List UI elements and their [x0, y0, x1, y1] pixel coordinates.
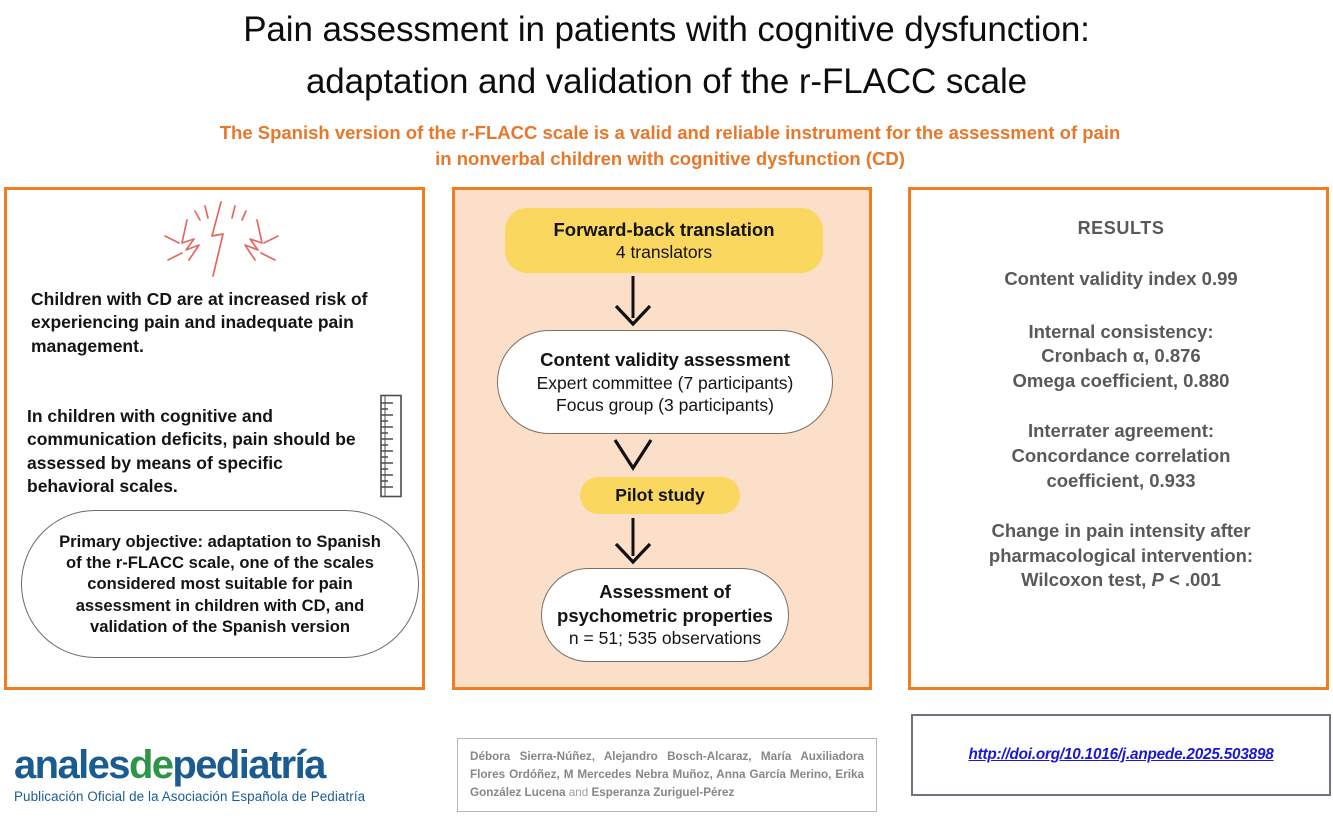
title-line-1: Pain assessment in patients with cogniti… [0, 4, 1333, 56]
flow-step-psychometrics-title: Assessment of psychometric properties [542, 580, 788, 627]
page-subtitle: The Spanish version of the r-FLACC scale… [80, 120, 1260, 171]
flow-step-translation-title: Forward-back translation [553, 218, 774, 241]
flow-step-content-validity-detail-2: Focus group (3 participants) [556, 394, 774, 416]
logo-part-anales: anales [14, 743, 129, 787]
logo-part-de: de [129, 743, 172, 787]
internal-consistency-line-2: Omega coefficient, 0.880 [921, 369, 1321, 394]
flow-step-pilot-study-title: Pilot study [615, 484, 704, 506]
flow-step-translation-detail: 4 translators [616, 241, 712, 263]
change-in-pain-line-1: Change in pain intensity after [921, 519, 1321, 544]
flow-arrow-down-icon [603, 274, 663, 328]
flow-step-psychometrics-detail: n = 51; 535 observations [569, 627, 761, 649]
doi-box: http://doi.org/10.1016/j.anpede.2025.503… [911, 714, 1331, 796]
pain-burst-icon [149, 198, 294, 283]
left-statement-2: In children with cognitive and communica… [27, 405, 357, 498]
page-title: Pain assessment in patients with cogniti… [0, 4, 1333, 108]
journal-logo-wordmark: analesdepediatría [14, 745, 414, 785]
journal-logo: analesdepediatría Publicación Oficial de… [14, 745, 414, 804]
primary-objective-text: Primary objective: adaptation to Spanish… [22, 531, 418, 637]
ruler-icon [377, 394, 405, 498]
change-in-pain-line-3: Wilcoxon test, P < .001 [921, 568, 1321, 593]
flow-step-content-validity-detail-1: Expert committee (7 participants) [537, 372, 794, 394]
logo-part-pediatria: pediatría [172, 743, 324, 787]
interrater-label: Interrater agreement: [921, 419, 1321, 444]
interrater-line-1: Concordance correlation [921, 444, 1321, 469]
result-content-validity: Content validity index 0.99 [921, 267, 1321, 292]
flow-step-translation: Forward-back translation 4 translators [505, 208, 823, 273]
title-line-2: adaptation and validation of the r-FLACC… [0, 56, 1333, 108]
left-statement-1: Children with CD are at increased risk o… [31, 288, 389, 358]
p-value-symbol: P [1151, 569, 1163, 590]
change-in-pain-line-2: pharmacological intervention: [921, 544, 1321, 569]
authors-box: Débora Sierra-Núñez, Alejandro Bosch-Alc… [457, 738, 877, 812]
results-panel: RESULTS Content validity index 0.99 Inte… [908, 187, 1329, 690]
subtitle-line-2: in nonverbal children with cognitive dys… [80, 146, 1260, 172]
authors-list: Débora Sierra-Núñez, Alejandro Bosch-Alc… [470, 748, 864, 801]
methods-flowchart-panel: Forward-back translation 4 translators C… [452, 187, 872, 690]
result-internal-consistency: Internal consistency: Cronbach α, 0.876 … [921, 320, 1321, 394]
authors-last: Esperanza Zuriguel-Pérez [592, 786, 735, 799]
primary-objective-box: Primary objective: adaptation to Spanish… [21, 510, 419, 658]
authors-conjunction: and [569, 786, 589, 799]
background-panel: Children with CD are at increased risk o… [4, 187, 425, 690]
flow-arrow-down-icon [603, 516, 663, 566]
doi-link[interactable]: http://doi.org/10.1016/j.anpede.2025.503… [968, 746, 1273, 764]
flow-step-psychometrics: Assessment of psychometric properties n … [541, 568, 789, 662]
result-change-in-pain: Change in pain intensity after pharmacol… [921, 519, 1321, 593]
flow-arrow-down-icon [603, 436, 663, 476]
flow-step-content-validity-title: Content validity assessment [540, 348, 790, 371]
interrater-line-2: coefficient, 0.933 [921, 469, 1321, 494]
flow-step-pilot-study: Pilot study [580, 477, 740, 514]
journal-logo-tagline: Publicación Oficial de la Asociación Esp… [14, 789, 414, 804]
graphical-abstract: Pain assessment in patients with cogniti… [0, 0, 1333, 819]
results-heading: RESULTS [921, 218, 1321, 239]
internal-consistency-label: Internal consistency: [921, 320, 1321, 345]
wilcoxon-label: Wilcoxon test, [1021, 569, 1151, 590]
flow-step-content-validity: Content validity assessment Expert commi… [497, 330, 833, 434]
p-value-number: < .001 [1164, 569, 1221, 590]
internal-consistency-line-1: Cronbach α, 0.876 [921, 344, 1321, 369]
result-interrater-agreement: Interrater agreement: Concordance correl… [921, 419, 1321, 493]
subtitle-line-1: The Spanish version of the r-FLACC scale… [80, 120, 1260, 146]
